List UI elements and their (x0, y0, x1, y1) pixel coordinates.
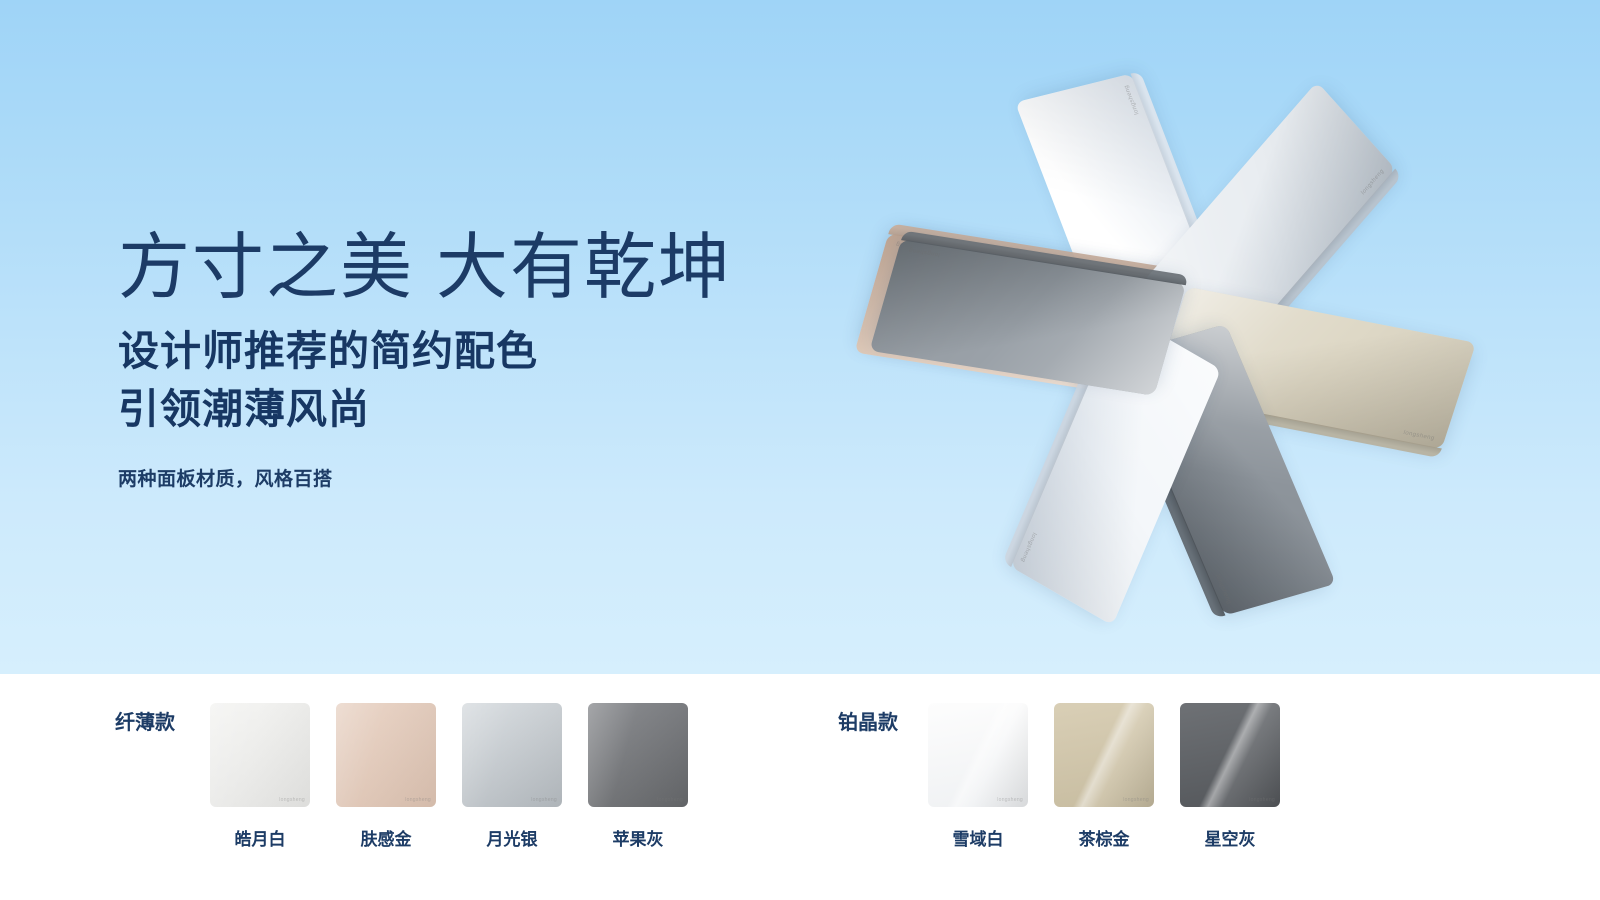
hero-copy: 方寸之美 大有乾坤 设计师推荐的简约配色 引领潮薄风尚 两种面板材质，风格百搭 (118, 232, 732, 491)
swatch-name-label: 雪域白 (953, 825, 1004, 850)
color-swatch-section: 纤薄款longsheng皓月白longsheng肤感金longsheng月光银l… (0, 674, 1600, 900)
swatch-sheen (336, 703, 436, 807)
panel-pinwheel: longshenglongshenglongshenglongshenglong… (760, 0, 1480, 674)
hero-banner: 方寸之美 大有乾坤 设计师推荐的简约配色 引领潮薄风尚 两种面板材质，风格百搭 … (0, 0, 1600, 674)
swatch-brand-mark: longsheng (1123, 797, 1149, 803)
swatch-name-label: 星空灰 (1205, 825, 1256, 850)
swatch-name-label: 苹果灰 (613, 825, 664, 850)
swatch-item[interactable]: longsheng星空灰 (1180, 703, 1280, 850)
swatch-brand-mark: longsheng (657, 797, 683, 803)
swatch-sheen (928, 703, 1028, 807)
swatch-item[interactable]: longsheng月光银 (462, 703, 562, 850)
swatch-item[interactable]: longsheng雪域白 (928, 703, 1028, 850)
swatch-group-slim: 纤薄款longsheng皓月白longsheng肤感金longsheng月光银l… (115, 674, 688, 850)
page-title: 方寸之美 大有乾坤 (118, 232, 732, 304)
swatch-sheen (1180, 703, 1280, 807)
swatch-brand-mark: longsheng (997, 797, 1023, 803)
swatch-group-label: 纤薄款 (115, 706, 175, 735)
color-swatch[interactable]: longsheng (1180, 703, 1280, 807)
swatch-sheen (1054, 703, 1154, 807)
hero-subheadline-line1: 设计师推荐的简约配色 (118, 328, 538, 374)
color-swatch[interactable]: longsheng (1054, 703, 1154, 807)
swatch-brand-mark: longsheng (531, 797, 557, 803)
hero-subheadline: 设计师推荐的简约配色 引领潮薄风尚 (118, 322, 732, 438)
swatch-group-label: 铂晶款 (838, 706, 898, 735)
color-swatch[interactable]: longsheng (210, 703, 310, 807)
swatch-sheen (210, 703, 310, 807)
swatch-name-label: 皓月白 (235, 825, 286, 850)
swatch-brand-mark: longsheng (279, 797, 305, 803)
swatch-item[interactable]: longsheng皓月白 (210, 703, 310, 850)
color-swatch[interactable]: longsheng (928, 703, 1028, 807)
product-showcase: longshenglongshenglongshenglongshenglong… (760, 0, 1480, 674)
color-swatch[interactable]: longsheng (462, 703, 562, 807)
color-swatch[interactable]: longsheng (336, 703, 436, 807)
hero-subheadline-line2: 引领潮薄风尚 (118, 380, 732, 438)
swatch-brand-mark: longsheng (1249, 797, 1275, 803)
swatch-list: longsheng皓月白longsheng肤感金longsheng月光银long… (210, 703, 688, 850)
promo-page: 方寸之美 大有乾坤 设计师推荐的简约配色 引领潮薄风尚 两种面板材质，风格百搭 … (0, 0, 1600, 900)
swatch-item[interactable]: longsheng肤感金 (336, 703, 436, 850)
swatch-name-label: 肤感金 (361, 825, 412, 850)
color-swatch[interactable]: longsheng (588, 703, 688, 807)
swatch-name-label: 月光银 (487, 825, 538, 850)
swatch-item[interactable]: longsheng苹果灰 (588, 703, 688, 850)
hero-caption: 两种面板材质，风格百搭 (118, 464, 732, 491)
swatch-sheen (462, 703, 562, 807)
swatch-list: longsheng雪域白longsheng茶棕金longsheng星空灰 (928, 703, 1280, 850)
swatch-group-platinum: 铂晶款longsheng雪域白longsheng茶棕金longsheng星空灰 (838, 674, 1280, 850)
swatch-item[interactable]: longsheng茶棕金 (1054, 703, 1154, 850)
swatch-sheen (588, 703, 688, 807)
swatch-brand-mark: longsheng (405, 797, 431, 803)
swatch-name-label: 茶棕金 (1079, 825, 1130, 850)
